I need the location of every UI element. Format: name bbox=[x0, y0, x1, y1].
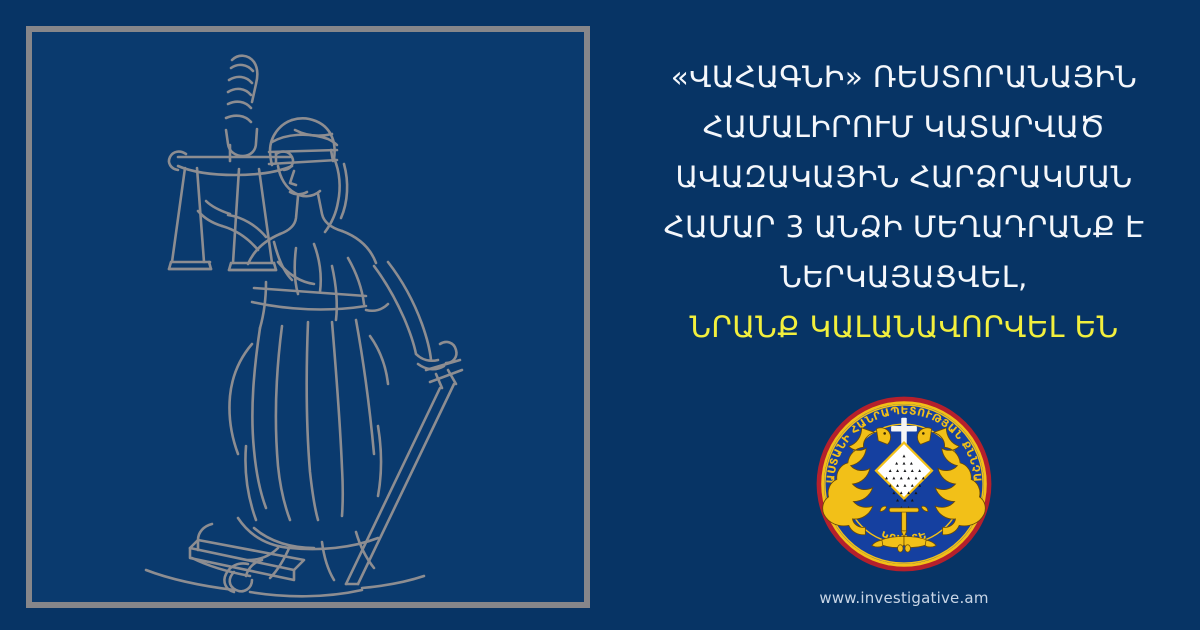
poster-canvas: «ՎԱՀԱԳՆԻ» ՌԵՍՏՈՐԱՆԱՅԻՆ ՀԱՄԱԼԻՐՈՒՄ ԿԱՏԱՐՎ… bbox=[0, 0, 1200, 630]
headline-line-4: ՀԱՄԱՐ 3 ԱՆՁԻ ՄԵՂԱԴՐԱՆՔ Է bbox=[608, 202, 1200, 252]
headline-line-3: ԱՎԱԶԱԿԱՅԻՆ ՀԱՐՁՐԱԿՄԱՆ bbox=[608, 152, 1200, 202]
right-content-panel: «ՎԱՀԱԳՆԻ» ՌԵՍՏՈՐԱՆԱՅԻՆ ՀԱՄԱԼԻՐՈՒՄ ԿԱՏԱՐՎ… bbox=[608, 0, 1200, 630]
lady-justice-illustration bbox=[26, 26, 590, 608]
emblem-block: ՀԱՅԱՍՏԱՆԻ ՀԱՆՐԱՊԵՏՈՒԹՅԱՆ ՔՆՆՉԱԿԱՆ ԿՈՄԻՏԵ bbox=[608, 392, 1200, 607]
headline-line-6: ՆՐԱՆՔ ԿԱԼԱՆԱՎՈՐՎԵԼ ԵՆ bbox=[608, 302, 1200, 352]
headline-line-2: ՀԱՄԱԼԻՐՈՒՄ ԿԱՏԱՐՎԱԾ bbox=[608, 102, 1200, 152]
left-illustration-panel bbox=[0, 0, 620, 630]
headline-line-5: ՆԵՐԿԱՅԱՑՎԵԼ, bbox=[608, 252, 1200, 302]
headline-block: «ՎԱՀԱԳՆԻ» ՌԵՍՏՈՐԱՆԱՅԻՆ ՀԱՄԱԼԻՐՈՒՄ ԿԱՏԱՐՎ… bbox=[608, 52, 1200, 352]
website-url[interactable]: www.investigative.am bbox=[608, 589, 1200, 607]
headline-line-1: «ՎԱՀԱԳՆԻ» ՌԵՍՏՈՐԱՆԱՅԻՆ bbox=[608, 52, 1200, 102]
investigative-committee-seal-icon: ՀԱՅԱՍՏԱՆԻ ՀԱՆՐԱՊԵՏՈՒԹՅԱՆ ՔՆՆՉԱԿԱՆ ԿՈՄԻՏԵ bbox=[812, 392, 996, 576]
